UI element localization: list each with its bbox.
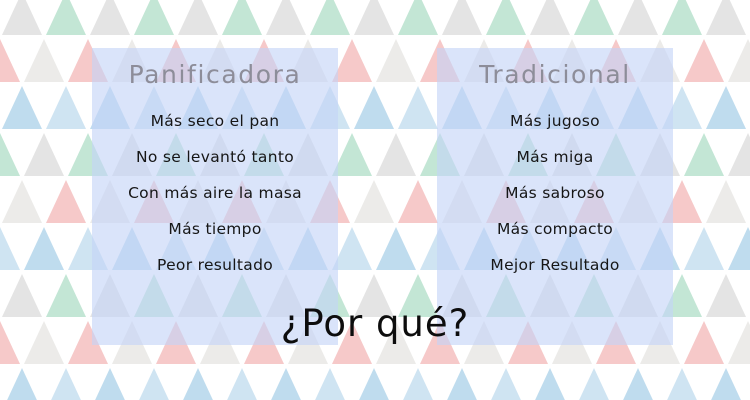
list-item: Más sabroso: [437, 175, 673, 211]
list-item: Peor resultado: [92, 247, 338, 283]
comparison-panel-panificadora: Panificadora Más seco el pan No se levan…: [92, 48, 338, 345]
slide-canvas: Panificadora Más seco el pan No se levan…: [0, 0, 750, 400]
list-item: Con más aire la masa: [92, 175, 338, 211]
list-item: Más tiempo: [92, 211, 338, 247]
list-item: No se levantó tanto: [92, 139, 338, 175]
list-item: Más miga: [437, 139, 673, 175]
column-list-panificadora: Más seco el pan No se levantó tanto Con …: [92, 103, 338, 283]
column-list-tradicional: Más jugoso Más miga Más sabroso Más comp…: [437, 103, 673, 283]
list-item: Más compacto: [437, 211, 673, 247]
column-title-tradicional: Tradicional: [437, 60, 673, 89]
column-title-panificadora: Panificadora: [92, 60, 338, 89]
list-item: Más seco el pan: [92, 103, 338, 139]
list-item: Mejor Resultado: [437, 247, 673, 283]
comparison-panel-tradicional: Tradicional Más jugoso Más miga Más sabr…: [437, 48, 673, 345]
question-heading: ¿Por qué?: [0, 302, 750, 345]
list-item: Más jugoso: [437, 103, 673, 139]
